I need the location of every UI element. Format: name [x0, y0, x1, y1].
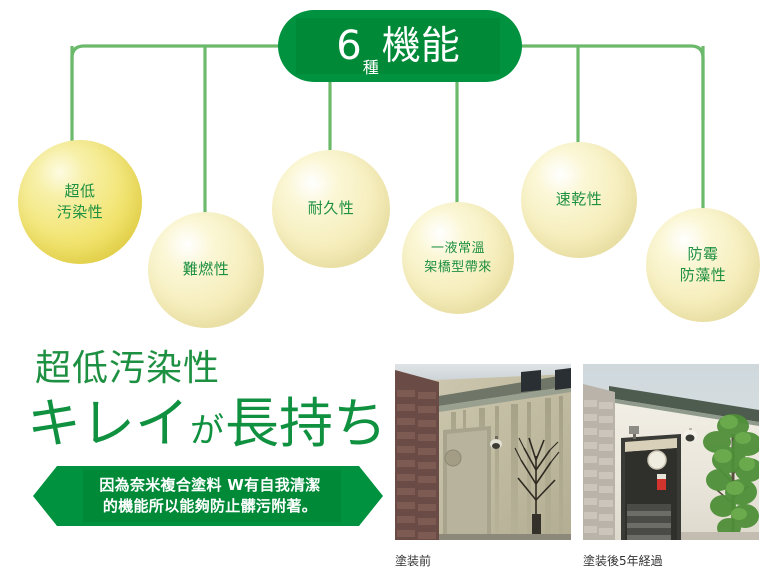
claim-banner-text: 因為奈米複合塗料 W有自我清潔 的機能所以能夠防止髒污附著。 [33, 466, 383, 526]
infographic-root: 6種機能 超低 汚染性 難燃性 耐久性 一液常溫 架橋型帶來 速乾性 防霉 防藻… [0, 0, 775, 583]
feature-bubble-one-pack-ambient[interactable]: 一液常溫 架橋型帶來 [402, 202, 514, 314]
title-word: 機能 [382, 27, 460, 66]
title-counter: 種 [363, 60, 379, 76]
headline-secondary: キレイが長持ち [27, 397, 387, 451]
feature-label: 速乾性 [556, 189, 603, 210]
claim-banner: 因為奈米複合塗料 W有自我清潔 的機能所以能夠防止髒污附著。 [33, 466, 383, 526]
feature-label: 耐久性 [308, 198, 355, 219]
caption-before: 塗装前 [395, 552, 431, 569]
headline-secondary-b: 長持ち [225, 397, 387, 451]
feature-label: 防霉 防藻性 [680, 244, 727, 287]
headline-secondary-a: キレイ [27, 397, 189, 451]
feature-label: 一液常溫 架橋型帶來 [424, 239, 492, 278]
title-number: 6 [336, 26, 361, 66]
caption-after: 塗装後5年経過 [583, 552, 663, 569]
headline-secondary-particle: が [189, 414, 225, 451]
title-pill: 6種機能 [278, 10, 522, 82]
feature-bubble-anti-mold-algae[interactable]: 防霉 防藻性 [646, 208, 760, 322]
feature-bubble-durability[interactable]: 耐久性 [272, 150, 390, 268]
feature-bubble-ultra-low-stain[interactable]: 超低 汚染性 [18, 140, 142, 264]
photo-after-5-years [583, 364, 759, 540]
photo-before-painting [395, 364, 571, 540]
headline-primary: 超低汚染性 [35, 351, 220, 387]
feature-bubble-quick-dry[interactable]: 速乾性 [521, 142, 637, 258]
title-pill-text: 6種機能 [278, 10, 522, 82]
feature-label: 難燃性 [183, 259, 230, 280]
feature-label: 超低 汚染性 [57, 181, 104, 224]
feature-bubble-flame-retardant[interactable]: 難燃性 [148, 212, 264, 328]
